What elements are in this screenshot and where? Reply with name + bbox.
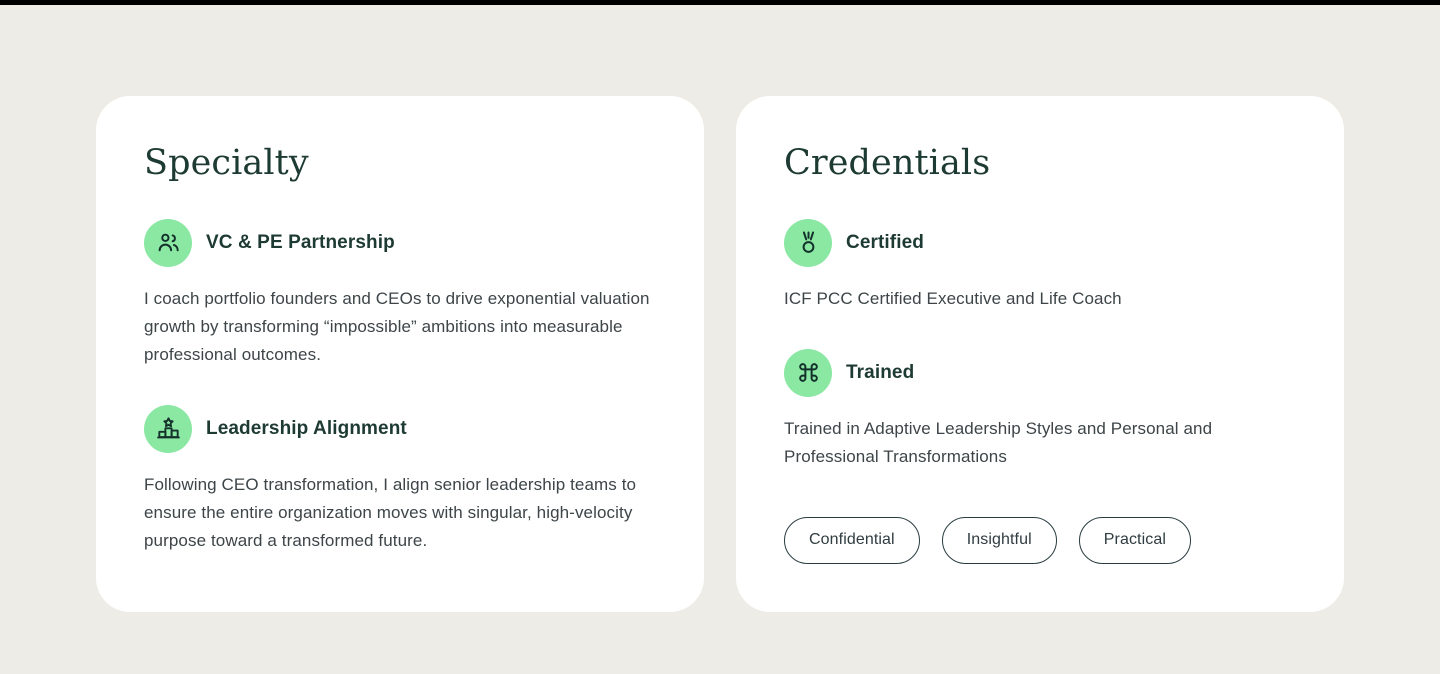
cards-container: Specialty VC & PE Partnership I coach po…: [96, 96, 1344, 612]
specialty-entry-leadership-alignment: Leadership Alignment Following CEO trans…: [144, 405, 656, 555]
entry-label: Trained: [846, 362, 914, 384]
entry-description: Following CEO transformation, I align se…: [144, 471, 656, 555]
specialty-entry-vc-pe-partnership: VC & PE Partnership I coach portfolio fo…: [144, 219, 656, 369]
specialty-card-title: Specialty: [144, 144, 656, 183]
entry-label: Leadership Alignment: [206, 418, 407, 440]
podium-star-icon: [144, 405, 192, 453]
credentials-card: Credentials Certified ICF PCC Certified …: [736, 96, 1344, 612]
entry-header: Certified: [784, 219, 1296, 267]
entry-header: Trained: [784, 349, 1296, 397]
top-accent-bar: [0, 0, 1440, 5]
people-icon: [144, 219, 192, 267]
pill-insightful[interactable]: Insightful: [942, 517, 1057, 564]
entry-label: VC & PE Partnership: [206, 232, 395, 254]
entry-header: Leadership Alignment: [144, 405, 656, 453]
entry-label: Certified: [846, 232, 924, 254]
credentials-card-title: Credentials: [784, 144, 1296, 183]
entry-description: I coach portfolio founders and CEOs to d…: [144, 285, 656, 369]
entry-description: ICF PCC Certified Executive and Life Coa…: [784, 285, 1276, 313]
specialty-card: Specialty VC & PE Partnership I coach po…: [96, 96, 704, 612]
entry-header: VC & PE Partnership: [144, 219, 656, 267]
credentials-entry-certified: Certified ICF PCC Certified Executive an…: [784, 219, 1296, 313]
credentials-entry-trained: Trained Trained in Adaptive Leadership S…: [784, 349, 1296, 471]
medal-icon: [784, 219, 832, 267]
attribute-pill-row: Confidential Insightful Practical: [784, 517, 1296, 564]
entry-description: Trained in Adaptive Leadership Styles an…: [784, 415, 1276, 471]
pill-practical[interactable]: Practical: [1079, 517, 1191, 564]
command-icon: [784, 349, 832, 397]
pill-confidential[interactable]: Confidential: [784, 517, 920, 564]
